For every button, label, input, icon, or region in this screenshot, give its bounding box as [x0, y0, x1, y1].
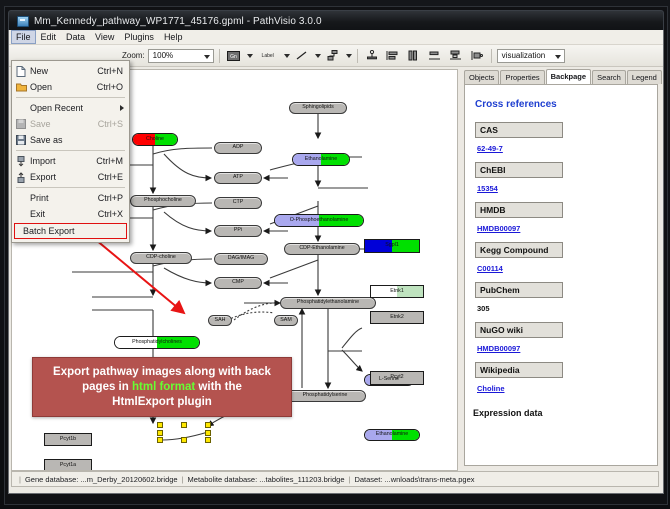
zoom-label: Zoom: — [122, 51, 145, 60]
zoom-combobox[interactable]: 100% — [148, 49, 214, 63]
xref-db-hmdb: HMDB — [475, 202, 563, 218]
xref-db-cas: CAS — [475, 122, 563, 138]
xref-value-kegg-compound[interactable]: C00114 — [477, 264, 503, 273]
side-panel: Objects Properties Backpage Search Legen… — [458, 69, 661, 469]
callout-banner: Export pathway images along with back pa… — [32, 357, 292, 417]
menu-item-open[interactable]: OpenCtrl+O — [12, 79, 129, 95]
xref-value-cas[interactable]: 62-49-7 — [477, 144, 503, 153]
stack-icon[interactable] — [447, 47, 465, 65]
xref-entry: ChEBI15354 — [465, 162, 657, 202]
backpage-content[interactable]: Cross references CAS62-49-7ChEBI15354HMD… — [464, 84, 658, 466]
metabolite-node-cmp[interactable]: CMP — [214, 277, 262, 289]
svg-text:Gn: Gn — [230, 54, 237, 60]
menu-data[interactable]: Data — [61, 30, 90, 44]
callout-highlight: html format — [132, 381, 195, 393]
xref-entry: WikipediaCholine — [465, 362, 657, 402]
pathvisio-icon — [16, 15, 29, 27]
menu-item-shortcut: Ctrl+O — [97, 82, 129, 92]
menu-item-save-as[interactable]: Save as — [12, 132, 129, 148]
node-label: DAG/IMAG — [228, 256, 255, 261]
node-label: CDP-Ethanolamine — [299, 246, 344, 251]
metabolite-node-ethanolamine-1[interactable]: Ethanolamine — [292, 153, 350, 166]
callout-line2-pre: pages in — [82, 381, 132, 393]
gene-node-sgpl1[interactable]: Sgpl1 — [364, 239, 420, 253]
node-label: SAM — [280, 318, 291, 323]
gene-node-pcyt1a[interactable]: Pcyt1a — [44, 459, 92, 471]
status-divider-0: | — [19, 475, 21, 484]
metabolite-node-phosphatidylserine[interactable]: Phosphatidylserine — [284, 390, 366, 402]
xref-value-hmdb[interactable]: HMDB00097 — [477, 224, 520, 233]
xref-entry: NuGO wikiHMDB00097 — [465, 322, 657, 362]
metabolite-node-sphingolipids[interactable]: Sphingolipids — [289, 102, 347, 114]
node-label: Phosphocholine — [144, 198, 182, 203]
side-panel-tabs: Objects Properties Backpage Search Legen… — [464, 70, 662, 84]
menu-item-exit[interactable]: ExitCtrl+X — [12, 206, 129, 222]
menu-item-print[interactable]: PrintCtrl+P — [12, 190, 129, 206]
menu-item-shortcut: Ctrl+S — [98, 119, 129, 129]
metabolite-node-atp[interactable]: ATP — [214, 172, 262, 184]
datanode-dropdown-icon[interactable] — [247, 54, 253, 58]
metabolite-database-value: ...tabolites_111203.bridge — [259, 475, 344, 484]
node-label: Choline — [133, 137, 177, 142]
menu-item-import[interactable]: ImportCtrl+M — [12, 153, 129, 169]
menu-edit[interactable]: Edit — [36, 30, 62, 44]
toolbar-separator — [219, 49, 220, 63]
metabolite-node-cdp-choline[interactable]: CDP-choline — [130, 252, 192, 264]
node-label: Etnk2 — [371, 315, 423, 320]
tab-backpage[interactable]: Backpage — [546, 69, 591, 84]
node-label: CTP — [233, 200, 244, 205]
node-label: Phosphatidylserine — [303, 393, 348, 398]
menu-bar: File Edit Data View Plugins Help — [9, 30, 663, 45]
menu-item-label: Print — [30, 193, 98, 203]
align-center-icon[interactable] — [405, 47, 423, 65]
callout-line2-post: with the — [195, 381, 242, 393]
status-divider-2: | — [348, 475, 350, 484]
xref-entry: CAS62-49-7 — [465, 122, 657, 162]
xref-value-pubchem: 305 — [477, 304, 490, 313]
label-dropdown-icon[interactable] — [284, 54, 290, 58]
menu-item-label: Import — [30, 156, 96, 166]
tab-properties[interactable]: Properties — [500, 70, 544, 84]
menu-item-label: Open Recent — [30, 103, 123, 113]
menu-item-shortcut: Ctrl+N — [97, 66, 129, 76]
node-label: Etnk1 — [371, 289, 423, 294]
selection-handle[interactable] — [181, 437, 187, 443]
node-label: CMP — [232, 280, 244, 285]
toolbar-separator-2 — [357, 49, 358, 63]
menu-separator — [16, 187, 125, 188]
label-icon[interactable]: Label — [256, 47, 280, 65]
node-label: Pcyt2 — [371, 375, 423, 380]
cross-references-heading: Cross references — [475, 99, 657, 110]
menu-plugins[interactable]: Plugins — [119, 30, 159, 44]
chevron-down-icon — [204, 55, 210, 59]
metabolite-node-phosphocholine[interactable]: Phosphocholine — [130, 195, 196, 207]
metabolite-node-ctp[interactable]: CTP — [214, 197, 262, 209]
gene-node-etnk2[interactable]: Etnk2 — [370, 311, 424, 324]
xref-entry: PubChem305 — [465, 282, 657, 322]
xref-value-chebi[interactable]: 15354 — [477, 184, 498, 193]
selection-handle[interactable] — [157, 430, 163, 436]
callout-line3: HtmlExport plugin — [112, 395, 212, 410]
gene-node-pcyt2[interactable]: Pcyt2 — [370, 371, 424, 385]
metabolite-node-o-phosphoethanolamine[interactable]: O-Phosphoethanolamine — [274, 214, 364, 227]
save-icon — [12, 119, 30, 129]
node-label: Pcyt1b — [45, 437, 91, 442]
menu-item-save: SaveCtrl+S — [12, 116, 129, 132]
menu-item-shortcut: Ctrl+P — [98, 193, 129, 203]
menu-item-new[interactable]: NewCtrl+N — [12, 63, 129, 79]
status-bar: | Gene database: ...m_Derby_20120602.bri… — [11, 471, 659, 487]
menu-view[interactable]: View — [90, 30, 119, 44]
chevron-down-icon-2 — [555, 55, 561, 59]
node-label: Pcyt1a — [45, 463, 91, 468]
application-window: File Edit Data View Plugins Help Zoom: 1… — [8, 30, 664, 494]
file-menu-dropdown[interactable]: NewCtrl+NOpenCtrl+OOpen RecentSaveCtrl+S… — [11, 60, 130, 243]
xref-value-nugo-wiki[interactable]: HMDB00097 — [477, 344, 520, 353]
node-label: Ethanolamine — [293, 157, 349, 162]
label-text: Label — [262, 53, 274, 59]
selection-handle[interactable] — [157, 437, 163, 443]
metabolite-database-label: Metabolite database: — [188, 475, 258, 484]
callout-line2: pages in html format with the — [82, 380, 242, 395]
visualization-value: visualization — [502, 51, 546, 60]
save-as-icon — [12, 135, 30, 145]
anchor-icon[interactable] — [363, 47, 381, 65]
menu-item-label: Open — [30, 82, 97, 92]
screenshot-root: Mm_Kennedy_pathway_WP1771_45176.gpml - P… — [0, 0, 670, 509]
export-icon — [12, 172, 30, 183]
menu-item-label: Save — [30, 119, 98, 129]
node-label: PPi — [234, 228, 242, 233]
import-icon — [12, 156, 30, 167]
dataset-value: ...wnloads\trans-meta.pgex — [384, 475, 474, 484]
gene-node-pcyt1b[interactable]: Pcyt1b — [44, 433, 92, 446]
gene-database-label: Gene database: — [25, 475, 78, 484]
menu-separator — [16, 150, 125, 151]
new-file-icon — [12, 66, 30, 77]
metabolite-node-cdp-ethanolamine[interactable]: CDP-Ethanolamine — [284, 243, 360, 255]
node-label: Sphingolipids — [302, 105, 334, 110]
menu-item-label: Export — [30, 172, 98, 182]
xref-db-kegg-compound: Kegg Compound — [475, 242, 563, 258]
menu-item-batch-export[interactable]: Batch Export — [14, 223, 127, 239]
xref-entry: HMDBHMDB00097 — [465, 202, 657, 242]
xref-value-wikipedia[interactable]: Choline — [477, 384, 505, 393]
interaction-dropdown-icon[interactable] — [346, 54, 352, 58]
metabolite-node-phosphatidylethanolamine[interactable]: Phosphatidylethanolamine — [280, 297, 376, 309]
menu-item-shortcut: Ctrl+X — [98, 209, 129, 219]
xref-entry: Kegg CompoundC00114 — [465, 242, 657, 282]
line-icon[interactable] — [293, 47, 311, 65]
metabolite-node-adp[interactable]: ADP — [214, 142, 262, 154]
xref-db-chebi: ChEBI — [475, 162, 563, 178]
selection-handle[interactable] — [157, 422, 163, 428]
menu-item-label: Save as — [30, 135, 123, 145]
xref-db-pubchem: PubChem — [475, 282, 563, 298]
selection-handle[interactable] — [205, 422, 211, 428]
toolbar-separator-3 — [491, 49, 492, 63]
node-label: Ethanolamine — [365, 432, 419, 437]
callout-line1: Export pathway images along with back — [53, 365, 271, 380]
menu-item-shortcut: Ctrl+E — [98, 172, 129, 182]
menu-item-label: New — [30, 66, 97, 76]
node-label: ADP — [233, 145, 244, 150]
menu-item-export[interactable]: ExportCtrl+E — [12, 169, 129, 185]
menu-separator — [16, 97, 125, 98]
menu-item-open-recent[interactable]: Open Recent — [12, 100, 129, 116]
xref-db-nugo-wiki: NuGO wiki — [475, 322, 563, 338]
datanode-icon[interactable]: Gn — [225, 47, 243, 65]
tab-search[interactable]: Search — [592, 70, 626, 84]
selection-handle[interactable] — [205, 437, 211, 443]
visualization-combobox[interactable]: visualization — [497, 49, 565, 63]
submenu-arrow-icon — [120, 105, 124, 111]
metabolite-node-dag-imag[interactable]: DAG/IMAG — [214, 253, 268, 265]
metabolite-node-ppi[interactable]: PPi — [214, 225, 262, 237]
menu-item-label: Batch Export — [23, 226, 120, 236]
title-bar: Mm_Kennedy_pathway_WP1771_45176.gpml - P… — [8, 10, 664, 32]
cross-reference-list: CAS62-49-7ChEBI15354HMDBHMDB00097Kegg Co… — [465, 122, 657, 402]
menu-help[interactable]: Help — [159, 30, 188, 44]
interaction-icon[interactable] — [324, 47, 342, 65]
node-label: Phosphatidylcholines — [115, 340, 199, 345]
gene-node-etnk1[interactable]: Etnk1 — [370, 285, 424, 298]
metabolite-node-phosphatidylcholines[interactable]: Phosphatidylcholines — [114, 336, 200, 349]
menu-file[interactable]: File — [11, 30, 36, 44]
node-label: ATP — [233, 175, 243, 180]
align-left-icon[interactable] — [384, 47, 402, 65]
metabolite-node-ethanolamine-2[interactable]: Ethanolamine — [364, 429, 420, 441]
node-label: Phosphatidylethanolamine — [297, 300, 359, 305]
selection-handle[interactable] — [181, 422, 187, 428]
align-middle-icon[interactable] — [426, 47, 444, 65]
node-label: SAH — [215, 318, 226, 323]
selection-handle[interactable] — [205, 430, 211, 436]
expression-data-heading: Expression data — [473, 408, 657, 418]
dataset-label: Dataset: — [354, 475, 382, 484]
group-icon[interactable] — [468, 47, 486, 65]
gene-database-value: ...m_Derby_20120602.bridge — [80, 475, 177, 484]
open-folder-icon — [12, 82, 30, 92]
tab-legend[interactable]: Legend — [627, 70, 662, 84]
node-label: O-Phosphoethanolamine — [275, 218, 363, 223]
zoom-value: 100% — [153, 51, 173, 60]
node-label: CDP-choline — [146, 255, 176, 260]
window-title: Mm_Kennedy_pathway_WP1771_45176.gpml - P… — [34, 16, 322, 27]
tab-objects[interactable]: Objects — [464, 70, 499, 84]
menu-item-label: Exit — [30, 209, 98, 219]
metabolite-node-choline-top[interactable]: Choline — [132, 133, 178, 146]
xref-db-wikipedia: Wikipedia — [475, 362, 563, 378]
menu-item-shortcut: Ctrl+M — [96, 156, 129, 166]
node-label: Sgpl1 — [365, 243, 419, 248]
status-divider-1: | — [182, 475, 184, 484]
line-dropdown-icon[interactable] — [315, 54, 321, 58]
metabolite-node-sah[interactable]: SAH — [208, 315, 232, 326]
metabolite-node-sam[interactable]: SAM — [274, 315, 298, 326]
